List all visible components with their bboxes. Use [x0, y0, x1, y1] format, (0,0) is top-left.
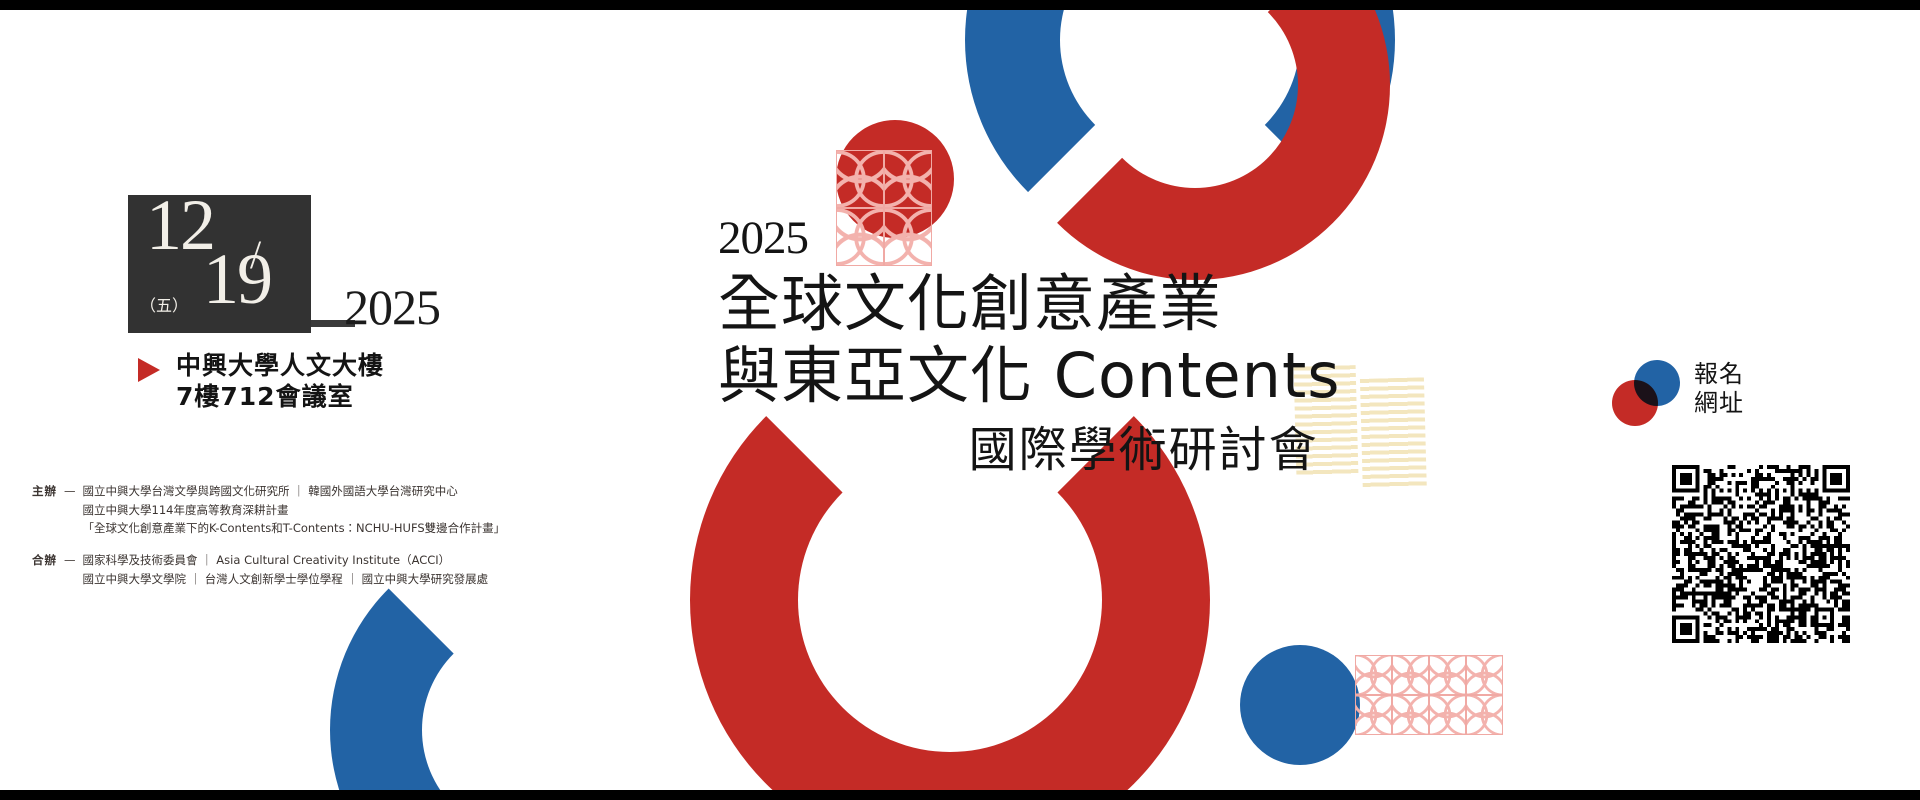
venue-block: 中興大學人文大樓 7樓712會議室 [138, 350, 568, 413]
conference-poster: 12 / 19 （五） 2025 中興大學人文大樓 7樓712會議室 主辦 — [0, 0, 1920, 800]
host-credit-group: 主辦 — 國立中興大學台灣文學與跨國文化研究所 ｜ 韓國外國語大學台灣研究中心 … [32, 482, 732, 538]
lattice-cell [1392, 655, 1429, 695]
cohost-line-2: 國立中興大學文學院 ｜ 台灣人文創新學士學位學程 ｜ 國立中興大學研究發展處 [83, 570, 489, 589]
lattice-cell [1355, 695, 1392, 735]
title-line-1: 全球文化創意產業 [718, 268, 1341, 340]
host-label: 主辦 [32, 482, 57, 538]
lattice-cell [1429, 695, 1466, 735]
registration-label-line-1: 報名 [1694, 360, 1744, 389]
title-line-2: 與東亞文化 Contents [718, 340, 1341, 412]
poster-artboard: 12 / 19 （五） 2025 中興大學人文大樓 7樓712會議室 主辦 — [0, 10, 1920, 790]
blue-circle [1240, 645, 1360, 765]
registration-label: 報名 網址 [1694, 360, 1744, 419]
lattice-cell [1355, 655, 1392, 695]
title-block: 2025 全球文化創意產業 與東亞文化 Contents 國際學術研討會 [718, 215, 1341, 479]
date-year: 2025 [344, 282, 440, 332]
host-line-3: 「全球文化創意產業下的K-Contents和T-Contents：NCHU-HU… [83, 519, 506, 538]
poster-canvas: 12 / 19 （五） 2025 中興大學人文大樓 7樓712會議室 主辦 — [0, 10, 1920, 790]
lattice-cell [1392, 695, 1429, 735]
lattice-cell [884, 150, 932, 208]
cohost-dash: — [64, 551, 76, 588]
date-badge: 12 / 19 （五） [128, 195, 311, 333]
lattice-cell [1466, 655, 1503, 695]
triangle-right-icon [138, 358, 160, 382]
cohost-credit-group: 合辦 — 國家科學及技術委員會 ｜ Asia Cultural Creativi… [32, 551, 732, 588]
cohost-line-1: 國家科學及技術委員會 ｜ Asia Cultural Creativity In… [83, 551, 489, 570]
venue-line-2: 7樓712會議室 [176, 381, 568, 412]
credits-block: 主辦 — 國立中興大學台灣文學與跨國文化研究所 ｜ 韓國外國語大學台灣研究中心 … [32, 482, 732, 601]
two-circles-logo-icon [1612, 360, 1686, 426]
host-lines: 國立中興大學台灣文學與跨國文化研究所 ｜ 韓國外國語大學台灣研究中心 國立中興大… [83, 482, 506, 538]
lattice-cell [836, 150, 884, 208]
title-subtitle: 國際學術研討會 [718, 422, 1341, 480]
cohost-lines: 國家科學及技術委員會 ｜ Asia Cultural Creativity In… [83, 551, 489, 588]
cohost-label: 合辦 [32, 551, 57, 588]
date-day: 19 [203, 243, 271, 315]
title-year: 2025 [718, 215, 1341, 262]
date-weekday: （五） [140, 292, 188, 316]
lattice-cell [1429, 655, 1466, 695]
registration-label-line-2: 網址 [1694, 389, 1744, 418]
lattice-cell [1466, 695, 1503, 735]
registration-block: 報名 網址 [1612, 360, 1744, 426]
qr-code-icon[interactable] [1672, 465, 1850, 643]
venue-lines: 中興大學人文大樓 7樓712會議室 [176, 350, 568, 413]
host-dash: — [64, 482, 76, 538]
qr-code-canvas[interactable] [1672, 465, 1850, 643]
venue-line-1: 中興大學人文大樓 [176, 350, 568, 381]
pink-lattice-pattern-bottom [1355, 655, 1503, 735]
host-line-2: 國立中興大學114年度高等教育深耕計畫 [83, 501, 506, 520]
host-line-1: 國立中興大學台灣文學與跨國文化研究所 ｜ 韓國外國語大學台灣研究中心 [83, 482, 506, 501]
